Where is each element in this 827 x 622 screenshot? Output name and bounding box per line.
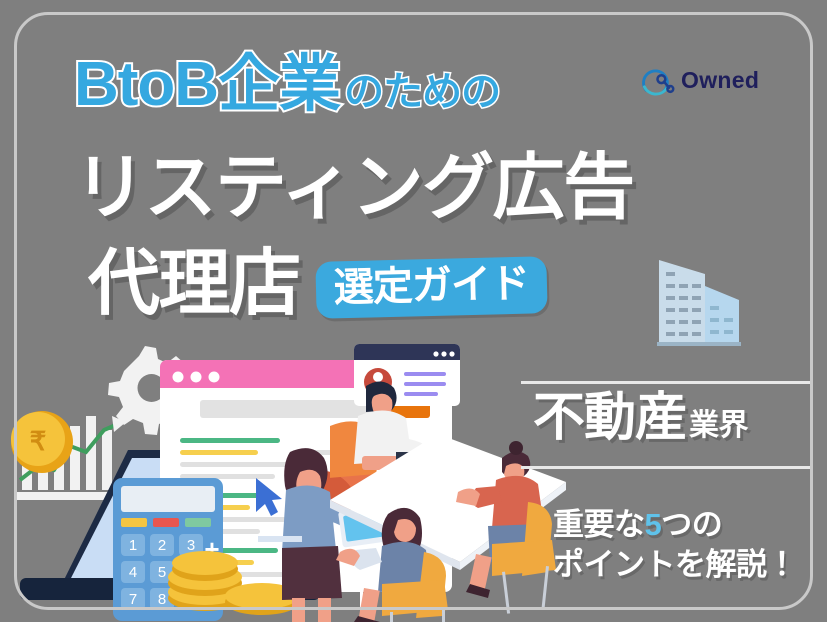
headline-dairiten: 代理店: [88, 248, 300, 320]
building-icon: [645, 252, 749, 350]
headline-line-3: 代理店 選定ガイド: [88, 248, 547, 320]
points-line1-b: つの: [661, 507, 722, 542]
brand-logo[interactable]: Owned: [641, 64, 759, 96]
banner-root: ₹: [0, 0, 827, 622]
svg-text:1: 1: [129, 537, 137, 554]
coin-icon: ₹: [11, 411, 73, 473]
headline-btob: BtoB企業: [74, 54, 340, 116]
points-line1-a: 重要な: [553, 507, 645, 542]
headline-line-2: リスティング広告: [74, 152, 634, 224]
industry-label: 不動産 業界: [533, 392, 748, 444]
svg-text:4: 4: [129, 564, 137, 581]
industry-main: 不動産: [533, 392, 686, 444]
svg-text:2: 2: [158, 537, 166, 554]
svg-text:8: 8: [158, 591, 166, 608]
logo-text: Owned: [681, 69, 759, 92]
owned-circle-mark-icon: [641, 64, 675, 96]
industry-sub: 業界: [689, 411, 748, 444]
divider-bottom: [521, 466, 813, 469]
points-text: 重要な5つの ポイントを解説！: [553, 505, 797, 584]
points-line2: ポイントを解説！: [553, 547, 797, 582]
svg-text:7: 7: [129, 591, 137, 608]
divider-top: [521, 381, 813, 384]
selection-guide-badge: 選定ガイド: [315, 256, 547, 319]
headline-line-1: BtoB企業 のための: [74, 54, 500, 116]
svg-text:₹: ₹: [30, 426, 47, 456]
headline-notameno: のための: [344, 72, 500, 116]
selection-guide-badge-label: 選定ガイド: [333, 263, 529, 308]
points-number: 5: [645, 507, 662, 542]
svg-text:3: 3: [187, 537, 195, 554]
svg-text:5: 5: [158, 564, 166, 581]
